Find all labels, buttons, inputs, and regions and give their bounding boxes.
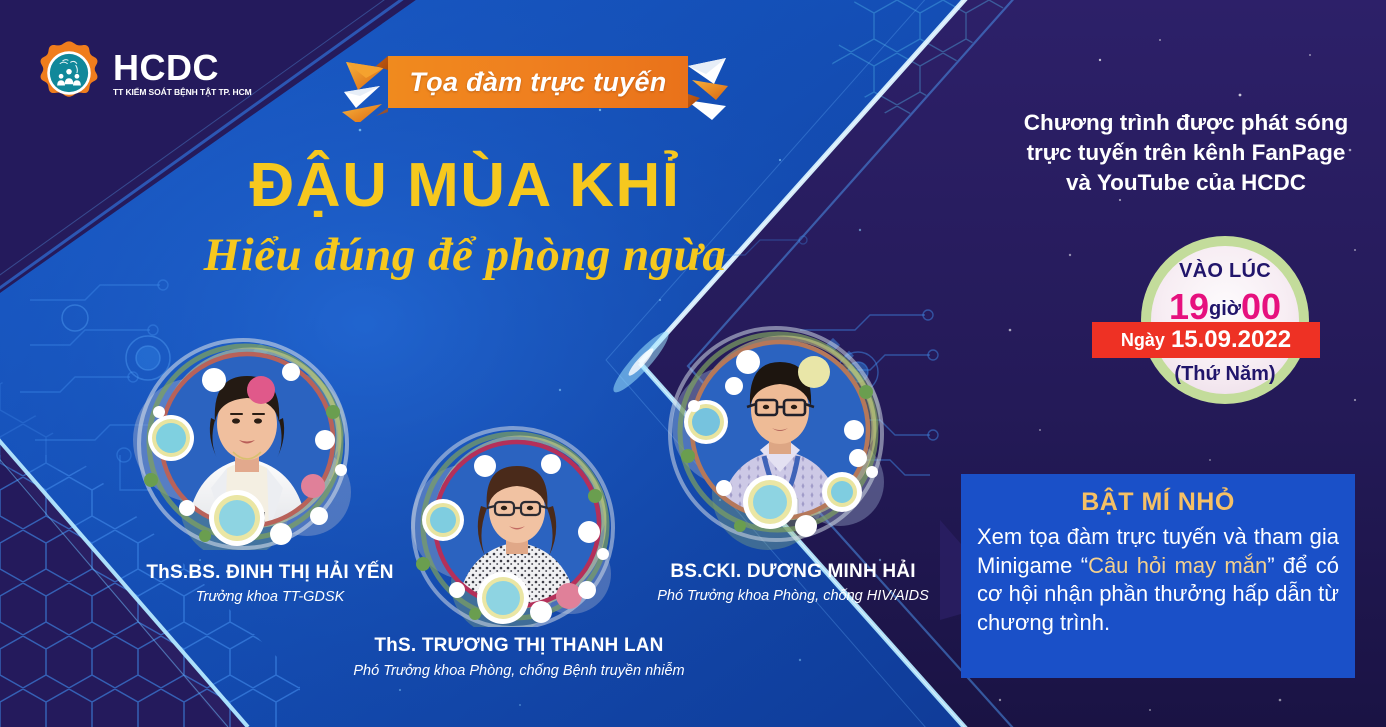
- event-date-bar: Ngày 15.09.2022: [1092, 322, 1320, 358]
- tip-body-highlight: Câu hỏi may mắn: [1088, 553, 1267, 578]
- date-prefix: Ngày: [1121, 330, 1165, 351]
- poster-root: HCDC TT KIỂM SOÁT BỆNH TẬT TP. HCM: [0, 0, 1386, 727]
- badge-hour: 19: [1169, 286, 1209, 327]
- speaker-3-photo: [628, 310, 958, 555]
- hcdc-flower-logo-icon: [36, 40, 102, 106]
- broadcast-line-2: trực tuyến trên kênh FanPage: [1000, 138, 1372, 168]
- badge-weekday: (Thứ Năm): [1141, 363, 1309, 386]
- page-subtitle: Hiểu đúng để phòng ngừa: [0, 228, 930, 282]
- speaker-card-3: BS.CKI. DƯƠNG MINH HẢI Phó Trưởng khoa P…: [628, 316, 958, 606]
- badge-minute: 00: [1241, 286, 1281, 327]
- page-title: ĐẬU MÙA KHỈ: [0, 150, 930, 221]
- badge-prefix: VÀO LÚC: [1141, 260, 1309, 283]
- ribbon-banner: Tọa đàm trực tuyến: [336, 50, 736, 122]
- date-value: 15.09.2022: [1171, 326, 1291, 354]
- ribbon-label: Tọa đàm trực tuyến: [388, 56, 688, 108]
- tip-box-body: Xem tọa đàm trực tuyến và tham gia Minig…: [977, 523, 1339, 637]
- hcdc-logo: HCDC TT KIỂM SOÁT BỆNH TẬT TP. HCM: [36, 40, 252, 106]
- tip-box: BẬT MÍ NHỎ Xem tọa đàm trực tuyến và tha…: [961, 474, 1355, 678]
- speaker-3-name: BS.CKI. DƯƠNG MINH HẢI: [628, 561, 958, 583]
- logo-title: HCDC: [113, 50, 252, 86]
- event-time-badge: VÀO LÚC 19giờ00 (Thứ Năm): [1141, 236, 1309, 404]
- speaker-2-name: ThS. TRƯƠNG THỊ THANH LAN: [345, 635, 693, 657]
- tip-box-title: BẬT MÍ NHỎ: [977, 488, 1339, 517]
- speaker-2-role: Phó Trưởng khoa Phòng, chống Bệnh truyền…: [345, 663, 693, 679]
- logo-subtitle: TT KIỂM SOÁT BỆNH TẬT TP. HCM: [113, 88, 252, 97]
- badge-unit: giờ: [1209, 298, 1241, 320]
- broadcast-info: Chương trình được phát sóng trực tuyến t…: [1000, 108, 1372, 198]
- speaker-3-role: Phó Trưởng khoa Phòng, chống HIV/AIDS: [628, 588, 958, 604]
- broadcast-line-1: Chương trình được phát sóng: [1000, 108, 1372, 138]
- broadcast-line-3: và YouTube của HCDC: [1000, 168, 1372, 198]
